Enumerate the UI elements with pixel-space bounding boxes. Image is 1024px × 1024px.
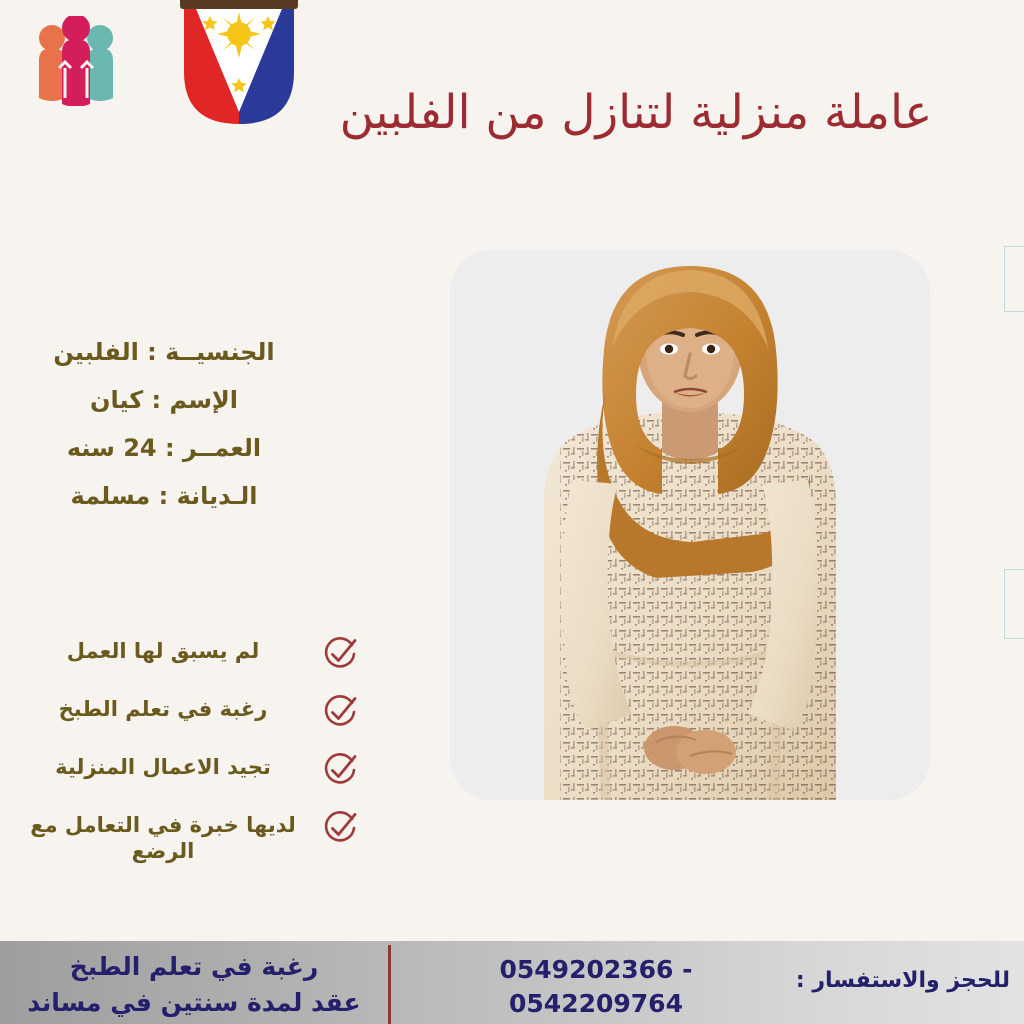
skill-label: تجيد الاعمال المنزلية	[14, 750, 312, 780]
personal-info-list: الجنسيــة : الفلبين الإسم : كيان العمــر…	[14, 340, 314, 532]
footer-contact-bar: للحجز والاستفسار : 0549202366 - 05422097…	[0, 941, 1024, 1024]
page-title: عاملة منزلية لتنازل من الفلبين	[296, 82, 976, 143]
worker-photo	[450, 250, 930, 800]
check-circle-icon	[322, 694, 358, 730]
info-row-age: العمــر : 24 سنه	[14, 436, 314, 460]
list-item: لم يسبق لها العمل	[14, 634, 358, 672]
skill-label: لم يسبق لها العمل	[14, 634, 312, 664]
three-people-logo	[33, 16, 119, 106]
info-row-nationality: الجنسيــة : الفلبين	[14, 340, 314, 364]
footer-phone-numbers: 0549202366 - 0542209764 0163840700	[426, 953, 766, 1024]
info-row-name: الإسم : كيان	[14, 388, 314, 412]
footer-cta-label: للحجز والاستفسار :	[796, 968, 1010, 993]
philippines-flag-shield	[172, 0, 306, 134]
phone-line-1[interactable]: 0549202366 - 0542209764	[426, 953, 766, 1021]
poster-canvas: عاملة منزلية لتنازل من الفلبين المعلومات…	[0, 0, 1024, 1024]
info-row-religion: الـديانة : مسلمة	[14, 484, 314, 508]
footer-note-line-2: عقد لمدة سنتين في مساند	[14, 985, 374, 1021]
footer-divider	[388, 945, 391, 1024]
check-circle-icon	[322, 810, 358, 846]
check-circle-icon	[322, 636, 358, 672]
section-outline-accent	[1004, 246, 1024, 312]
check-circle-icon	[322, 752, 358, 788]
skills-list: لم يسبق لها العمل رغبة في تعلم الطبخ تجي…	[14, 634, 358, 885]
list-item: رغبة في تعلم الطبخ	[14, 692, 358, 730]
list-item: تجيد الاعمال المنزلية	[14, 750, 358, 788]
skill-label: رغبة في تعلم الطبخ	[14, 692, 312, 722]
worker-photo-card	[450, 250, 930, 800]
footer-note-line-1: رغبة في تعلم الطبخ	[14, 949, 374, 985]
phone-line-2[interactable]: 0163840700	[426, 1021, 766, 1024]
footer-notes: رغبة في تعلم الطبخ عقد لمدة سنتين في مسا…	[14, 949, 374, 1022]
skill-label: لديها خبرة في التعامل مع الرضع	[14, 808, 312, 865]
list-item: لديها خبرة في التعامل مع الرضع	[14, 808, 358, 865]
section-outline-accent	[1004, 569, 1024, 639]
